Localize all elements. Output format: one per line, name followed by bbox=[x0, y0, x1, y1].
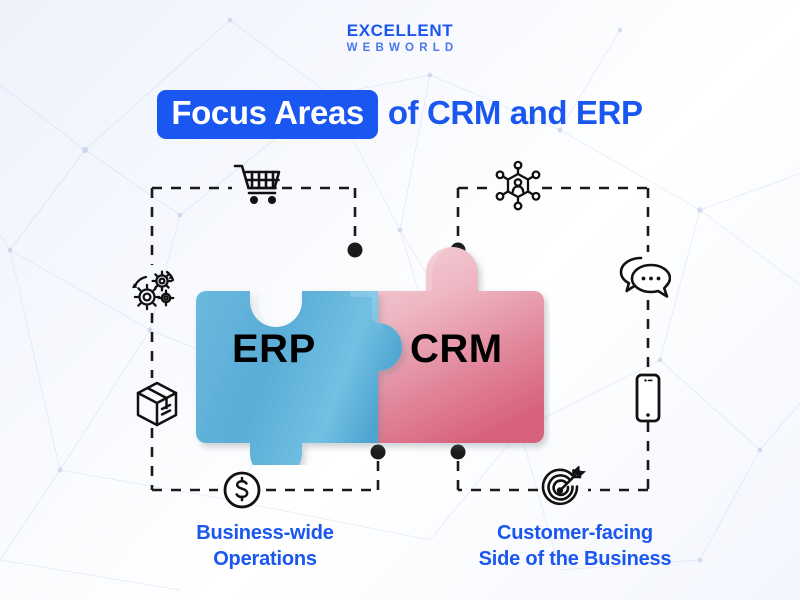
brand-logo: EXCELLENT WEBWORLD bbox=[0, 22, 800, 55]
page-title: Focus Areasof CRM and ERP bbox=[0, 90, 800, 139]
title-rest-text: of CRM and ERP bbox=[378, 94, 643, 135]
right-caption-line-1: Customer-facing bbox=[400, 520, 750, 546]
logo-secondary-text: WEBWORLD bbox=[0, 43, 800, 55]
right-group-caption: Customer-facing Side of the Business bbox=[400, 520, 750, 573]
erp-label: ERP bbox=[232, 327, 316, 372]
gears-settings-icon bbox=[131, 267, 177, 313]
left-caption-line-2: Operations bbox=[110, 546, 420, 572]
logo-primary-text: EXCELLENT bbox=[0, 22, 800, 39]
customer-network-icon bbox=[494, 160, 542, 212]
dollar-coin-icon bbox=[222, 470, 262, 510]
infographic-canvas: EXCELLENT WEBWORLD Focus Areasof CRM and… bbox=[0, 0, 800, 600]
right-caption-line-2: Side of the Business bbox=[400, 546, 750, 572]
smartphone-icon bbox=[624, 372, 672, 424]
crm-label: CRM bbox=[410, 327, 503, 372]
target-goal-icon bbox=[539, 466, 589, 514]
title-highlight-badge: Focus Areas bbox=[157, 90, 377, 139]
erp-puzzle-piece bbox=[196, 291, 402, 465]
package-box-icon bbox=[134, 380, 180, 428]
left-group-caption: Business-wide Operations bbox=[110, 520, 420, 573]
chat-bubbles-icon bbox=[617, 253, 671, 301]
shopping-cart-icon bbox=[233, 162, 283, 206]
left-caption-line-1: Business-wide bbox=[110, 520, 420, 546]
